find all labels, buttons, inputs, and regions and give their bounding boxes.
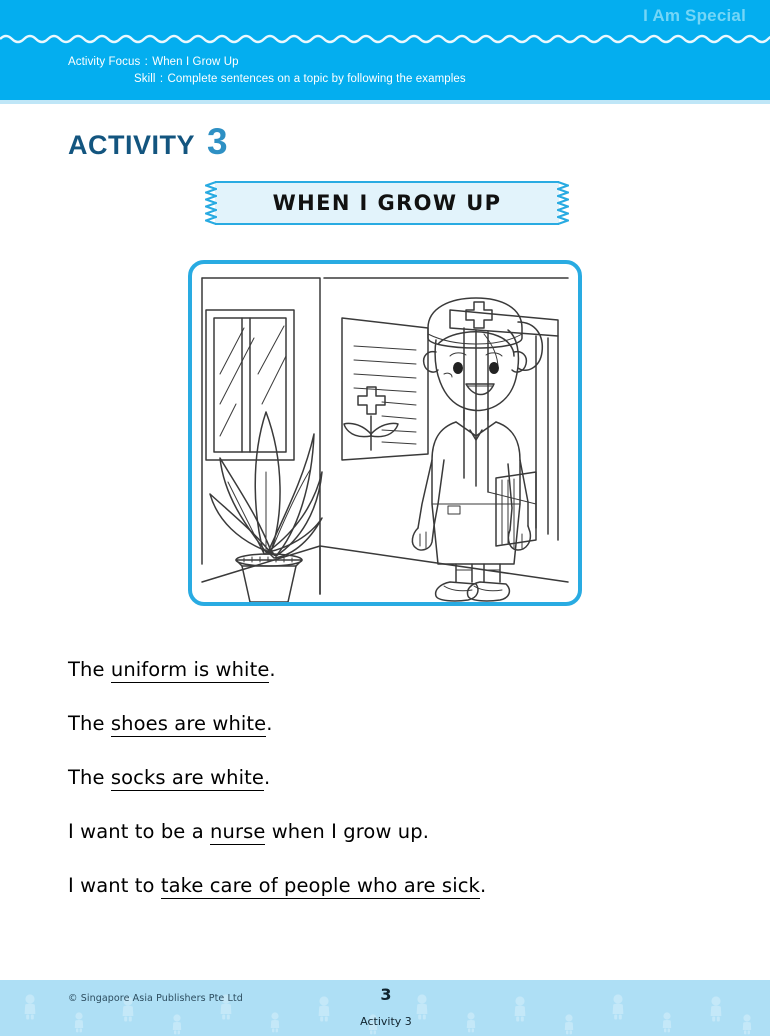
- skill-separator: :: [159, 73, 164, 85]
- window: [206, 310, 294, 460]
- activity-focus-label: Activity Focus: [68, 56, 140, 68]
- copyright-text: © Singapore Asia Publishers Pte Ltd: [68, 993, 243, 1004]
- topic-banner: WHEN I GROW UP: [205, 181, 569, 225]
- page-number-tab: 3: [361, 980, 411, 1012]
- activity-illustration: [188, 260, 582, 606]
- sentence-item: The shoes are white.: [68, 697, 708, 751]
- banner-title: WHEN I GROW UP: [205, 181, 569, 225]
- sentence-answer: socks are white: [111, 766, 264, 791]
- sentence-suffix: when I grow up.: [265, 820, 429, 843]
- sentence-answer: nurse: [210, 820, 265, 845]
- sentence-list: The uniform is white. The shoes are whit…: [68, 643, 708, 913]
- skill-value: Complete sentences on a topic by followi…: [167, 73, 465, 85]
- skill-label: Skill: [134, 73, 156, 85]
- wave-divider: [0, 33, 770, 45]
- medical-cross-logo: [344, 387, 398, 450]
- activity-number: 3: [207, 123, 228, 160]
- nurse-character: [412, 298, 542, 601]
- skill-line: Skill : Complete sentences on a topic by…: [68, 71, 466, 88]
- sentence-item: I want to be a nurse when I grow up.: [68, 805, 708, 859]
- page-caption: Activity 3: [346, 1015, 426, 1028]
- sentence-prefix: The: [68, 658, 111, 681]
- sentence-suffix: .: [264, 766, 270, 789]
- sentence-suffix: .: [269, 658, 275, 681]
- book-title: I Am Special: [643, 6, 746, 26]
- sentence-prefix: The: [68, 712, 111, 735]
- focus-separator: :: [144, 56, 149, 68]
- sentence-answer: uniform is white: [111, 658, 270, 683]
- sentence-prefix: I want to be a: [68, 820, 210, 843]
- sentence-prefix: The: [68, 766, 111, 789]
- sentence-item: The uniform is white.: [68, 643, 708, 697]
- header-meta: Activity Focus : When I Grow Up Skill : …: [68, 54, 466, 88]
- sentence-suffix: .: [480, 874, 486, 897]
- activity-focus-value: When I Grow Up: [152, 56, 238, 68]
- header-band: I Am Special Activity Focus : When I Gro…: [0, 0, 770, 100]
- potted-plant: [210, 412, 322, 602]
- header-underline: [0, 100, 770, 104]
- activity-word: ACTIVITY: [68, 130, 195, 161]
- sentence-prefix: I want to: [68, 874, 161, 897]
- sentence-answer: take care of people who are sick: [161, 874, 480, 899]
- page-number: 3: [361, 980, 411, 1010]
- page-title: ACTIVITY 3: [68, 123, 228, 161]
- sentence-suffix: .: [266, 712, 272, 735]
- sentence-item: I want to take care of people who are si…: [68, 859, 708, 913]
- activity-focus-line: Activity Focus : When I Grow Up: [68, 54, 466, 71]
- sentence-answer: shoes are white: [111, 712, 266, 737]
- sentence-item: The socks are white.: [68, 751, 708, 805]
- notice-board-poster: [342, 318, 428, 460]
